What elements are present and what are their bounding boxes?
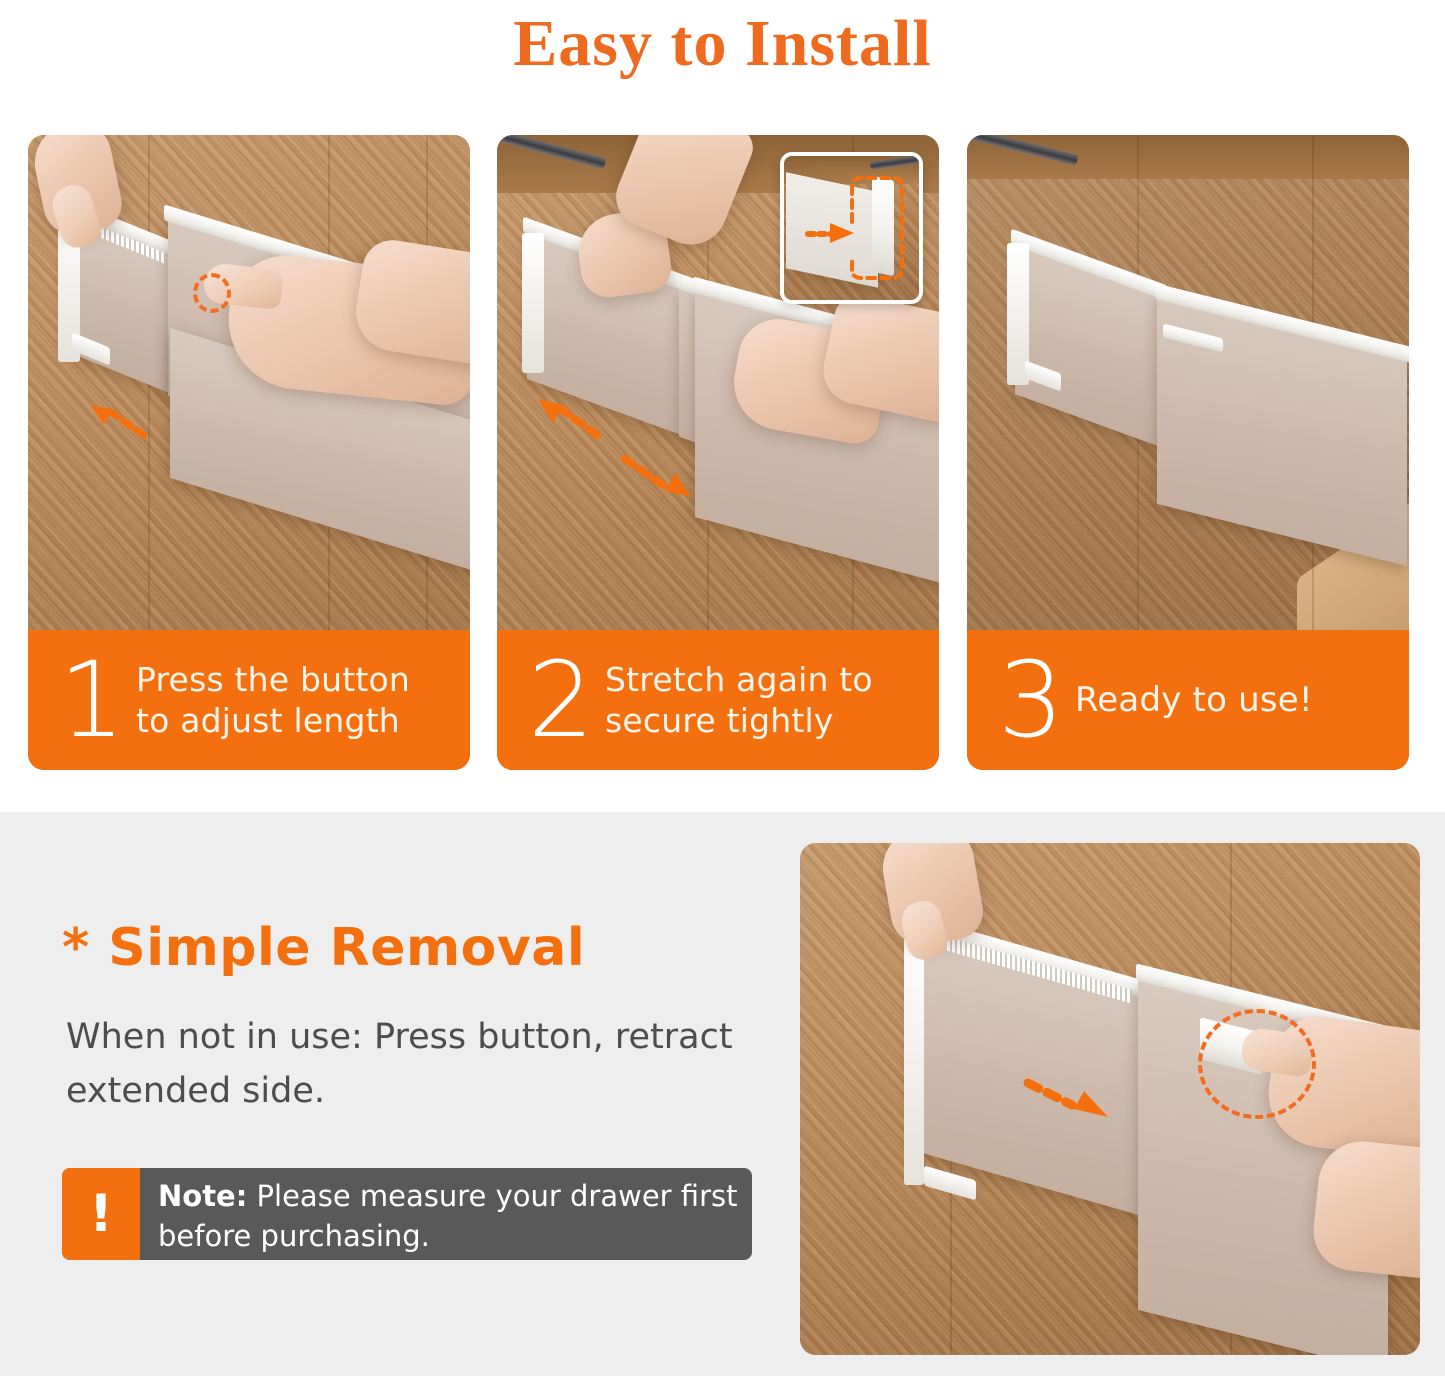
inset-dashed-arrow-right [806, 220, 858, 246]
simple-removal-section: * Simple Removal When not in use: Press … [0, 812, 1445, 1376]
dashed-arrow-left [86, 403, 148, 443]
install-steps: 1 Press the button to adjust length [0, 135, 1445, 775]
step-1-label: 1 Press the button to adjust length [28, 630, 470, 770]
step-3-text: Ready to use! [1075, 680, 1313, 721]
hand-lower [1310, 1137, 1420, 1279]
removal-title: * Simple Removal [62, 918, 585, 978]
step-2-text: Stretch again to secure tightly [605, 659, 873, 741]
solid-arrow-right [1022, 1075, 1114, 1123]
divider-left-foot [904, 935, 924, 1185]
removal-photo [800, 843, 1420, 1355]
removal-description: When not in use: Press button, retract e… [66, 1010, 776, 1118]
button-highlight-circle [193, 273, 231, 313]
dashed-arrow-left [535, 397, 605, 443]
step-2-inset [780, 152, 923, 304]
step-3-label: 3 Ready to use! [967, 630, 1409, 770]
note-box: ! Note: Please measure your drawer first… [62, 1168, 752, 1260]
step-1-number: 1 [48, 648, 136, 752]
divider-left-foot [522, 233, 544, 373]
note-label: Note: [158, 1179, 247, 1213]
step-3-number: 3 [987, 648, 1075, 752]
step-2-number: 2 [517, 648, 605, 752]
note-text: Note: Please measure your drawer first b… [140, 1168, 752, 1260]
step-2-label: 2 Stretch again to secure tightly [497, 630, 939, 770]
page-title: Easy to Install [0, 4, 1445, 84]
product-infographic: Easy to Install [0, 0, 1445, 1376]
step-1-text: Press the button to adjust length [136, 659, 410, 741]
drawer-back-wall [967, 135, 1409, 179]
button-highlight-circle [1198, 1009, 1316, 1119]
dashed-arrow-right [619, 453, 697, 501]
exclamation-icon: ! [62, 1168, 140, 1260]
